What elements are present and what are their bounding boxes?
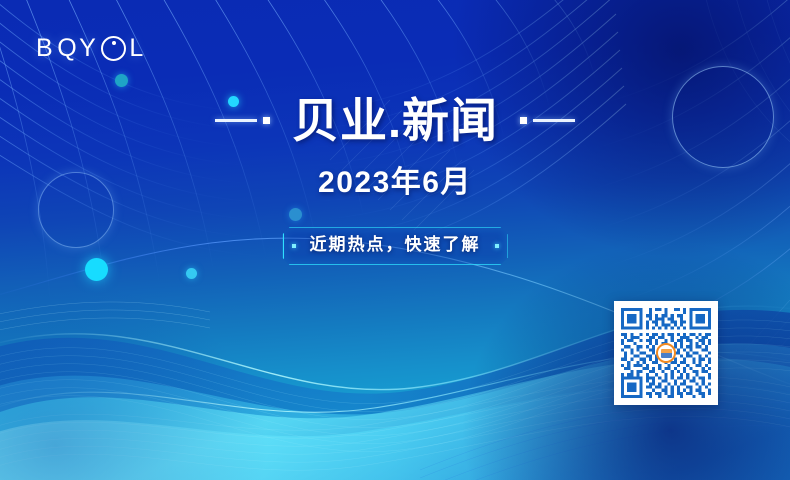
hot-topics-badge[interactable]: 近期热点，快速了解: [283, 227, 508, 264]
circle-dot-icon: [101, 36, 126, 61]
brand-logo-text-post: L: [129, 36, 145, 61]
decor-dot-1: [115, 74, 128, 87]
hot-topics-badge-label: 近期热点，快速了解: [310, 235, 481, 254]
title-row: 贝业.新闻: [215, 96, 575, 145]
title-rule-right-icon: [520, 117, 575, 124]
badge-pip-left-icon: [292, 244, 296, 248]
news-banner: B QY L 贝业.新闻 2023年6月 近期热点，快速了解: [0, 0, 790, 480]
hero-block: 贝业.新闻 2023年6月 近期热点，快速了解: [0, 96, 790, 265]
corner-shade-bottom-left: [0, 280, 270, 480]
decor-dot-4: [186, 268, 197, 279]
page-title: 贝业.新闻: [292, 96, 498, 145]
brand-circle-icon: [656, 343, 676, 363]
brand-logo-text-pre: B: [36, 36, 55, 61]
badge-wrapper: 近期热点，快速了解: [283, 227, 508, 264]
brand-logo[interactable]: B QY L: [36, 36, 146, 61]
page-subtitle: 2023年6月: [318, 157, 472, 201]
title-rule-left-icon: [215, 117, 270, 124]
badge-pip-right-icon: [495, 244, 499, 248]
qr-code[interactable]: [614, 301, 718, 405]
brand-logo-text-mid: QY: [57, 36, 98, 61]
